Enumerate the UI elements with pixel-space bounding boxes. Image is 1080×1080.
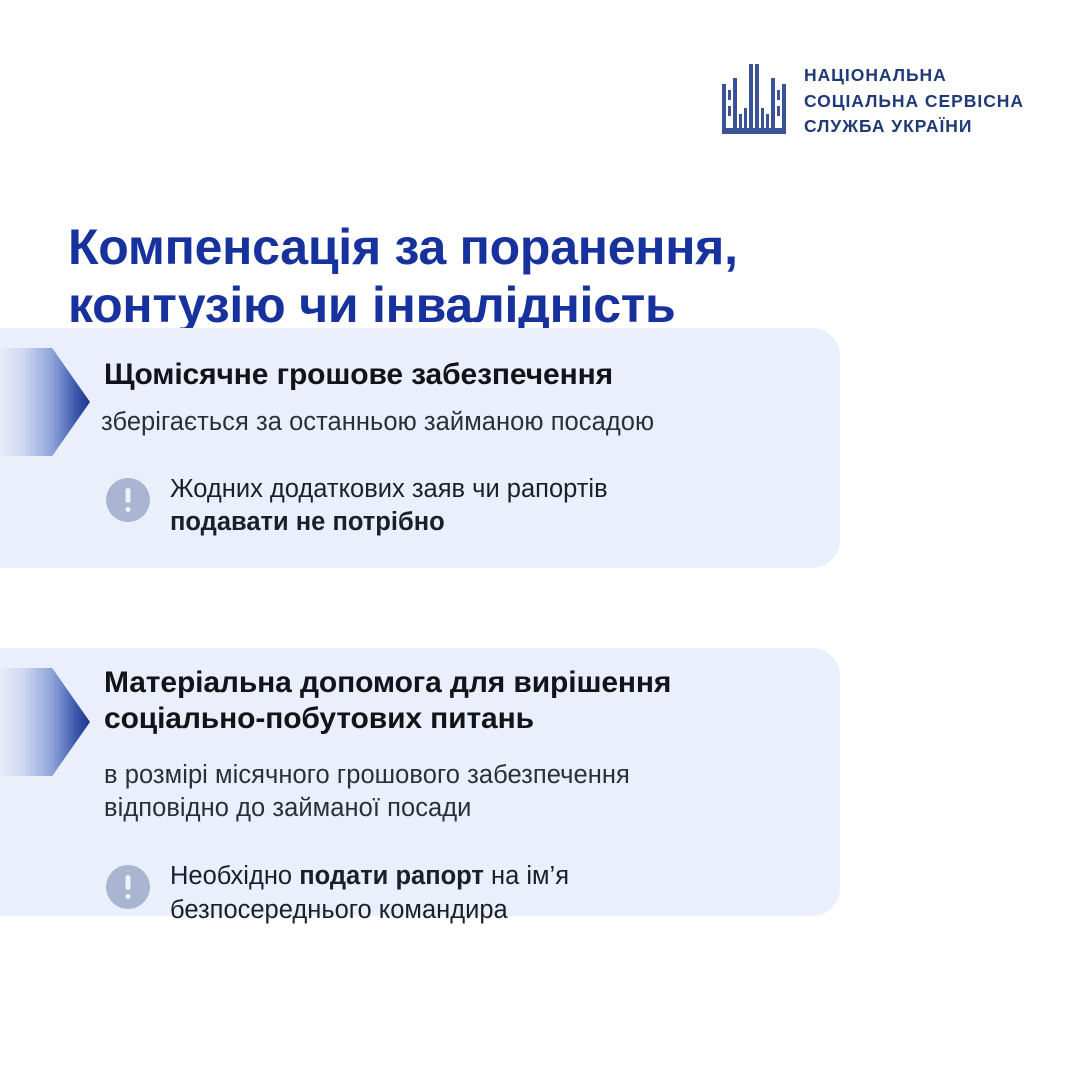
brand-line-1: НАЦІОНАЛЬНА — [804, 64, 1024, 86]
card-note-line-1-prefix: Необхідно — [170, 862, 299, 890]
card-title: Щомісячне грошове забезпечення — [104, 357, 810, 393]
brand-line-2: СОЦІАЛЬНА СЕРВІСНА — [804, 90, 1024, 112]
brand-wordmark: НАЦІОНАЛЬНА СОЦІАЛЬНА СЕРВІСНА СЛУЖБА УК… — [804, 64, 1024, 137]
card-note: Необхідно подати рапорт на ім’я безпосер… — [106, 860, 810, 927]
card-note-text: Жодних додаткових заяв чи рапортів подав… — [170, 473, 608, 540]
card-subtitle-line-2: відповідно до займаної посади — [104, 792, 810, 825]
card-note-line-1: Необхідно подати рапорт на ім’я — [170, 860, 569, 894]
card-note-line-1-bold: подати рапорт — [299, 862, 484, 890]
card-subtitle: зберігається за останньою займаною посад… — [101, 406, 810, 439]
card-note-line-2: подавати не потрібно — [170, 506, 608, 540]
card-subtitle: в розмірі місячного грошового забезпечен… — [104, 759, 810, 824]
brand-header: НАЦІОНАЛЬНА СОЦІАЛЬНА СЕРВІСНА СЛУЖБА УК… — [720, 62, 1024, 140]
card-note-line-1: Жодних додаткових заяв чи рапортів — [170, 473, 608, 507]
card-note: Жодних додаткових заяв чи рапортів подав… — [106, 473, 810, 540]
chevron-right-arrow-icon — [0, 348, 90, 456]
card-title-line-2: соціально-побутових питань — [104, 701, 810, 737]
card-subtitle-line-1: в розмірі місячного грошового забезпечен… — [104, 759, 810, 792]
card-body: Матеріальна допомога для вирішення соціа… — [104, 665, 810, 928]
brand-line-3: СЛУЖБА УКРАЇНИ — [804, 115, 1024, 137]
nssu-bars-emblem-icon — [720, 62, 786, 140]
page-title: Компенсація за поранення, контузію чи ін… — [68, 218, 948, 335]
benefit-card-monthly-allowance: Щомісячне грошове забезпечення зберігаєт… — [0, 328, 840, 568]
card-title: Матеріальна допомога для вирішення соціа… — [104, 665, 810, 737]
card-note-line-1-suffix: на ім’я — [484, 862, 569, 890]
card-body: Щомісячне грошове забезпечення зберігаєт… — [104, 357, 810, 540]
benefit-card-material-aid: Матеріальна допомога для вирішення соціа… — [0, 648, 840, 916]
exclamation-circle-icon — [106, 865, 150, 909]
card-title-line-1: Щомісячне грошове забезпечення — [104, 357, 810, 393]
card-title-line-1: Матеріальна допомога для вирішення — [104, 665, 810, 701]
card-note-text: Необхідно подати рапорт на ім’я безпосер… — [170, 860, 569, 927]
card-subtitle-line-1: зберігається за останньою займаною посад… — [101, 406, 810, 439]
page-title-line-1: Компенсація за поранення, — [68, 218, 948, 277]
page-title-line-2: контузію чи інвалідність — [68, 276, 948, 335]
chevron-right-arrow-icon — [0, 668, 90, 776]
card-note-line-2: безпосереднього командира — [170, 894, 569, 928]
card-note-line-2-bold: подавати не потрібно — [170, 508, 445, 536]
exclamation-circle-icon — [106, 478, 150, 522]
